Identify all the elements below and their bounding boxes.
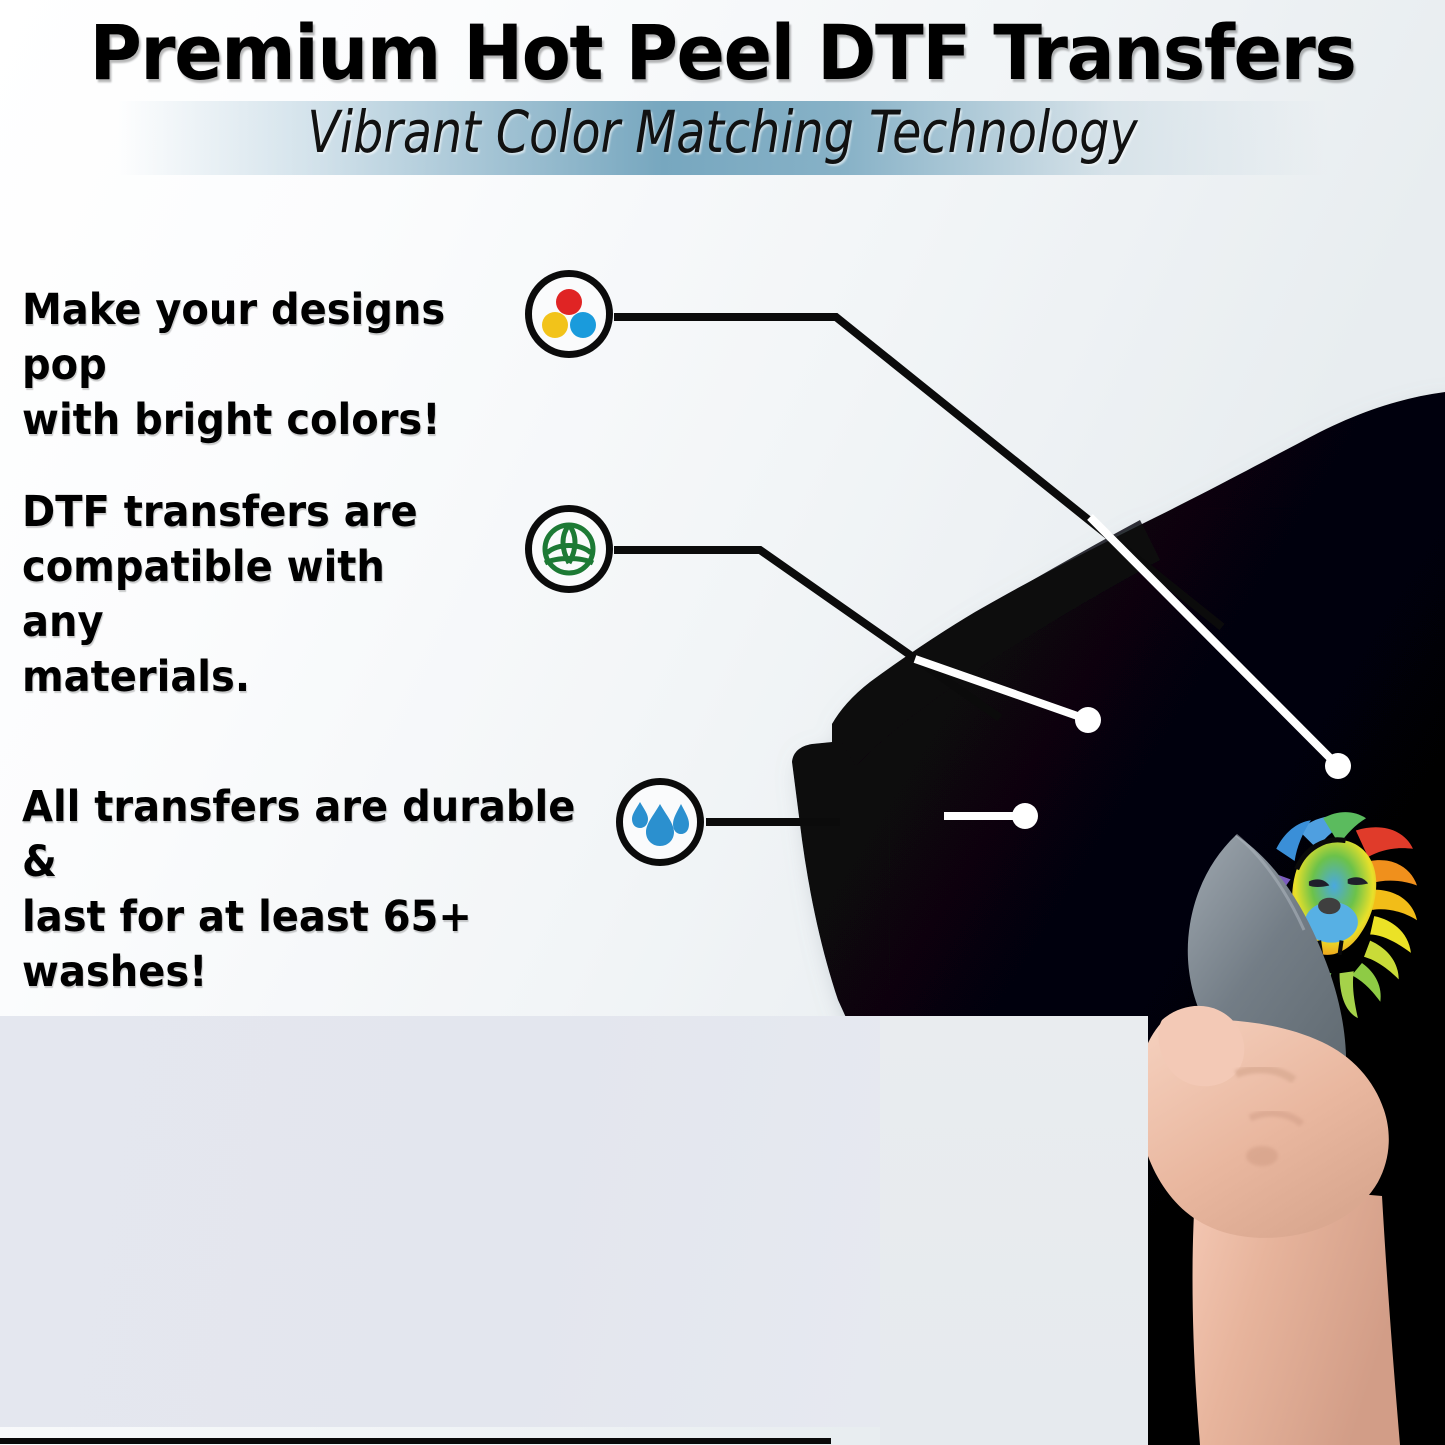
connector-endpoint-dot [1325,753,1351,779]
connector-endpoint-dot [1012,803,1038,829]
yarn-ball-icon [525,505,613,593]
bottom-divider [0,1438,831,1444]
page-subtitle: Vibrant Color Matching Technology [130,98,1315,166]
connector-endpoint-dot [1075,707,1101,733]
feature-durability: All transfers are durable & last for at … [22,780,622,1000]
feature-colors: Make your designs pop with bright colors… [22,283,522,448]
drop-center [646,804,674,846]
drop-left [632,802,648,828]
water-drops-icon [616,778,704,866]
drop-right [673,804,689,834]
feature-colors-label: Make your designs pop with bright colors… [22,283,487,448]
infographic-poster: Premium Hot Peel DTF Transfers Vibrant C… [0,0,1445,1445]
red-dot [556,289,582,315]
color-circles-icon [525,270,613,358]
bottom-panel [0,1016,880,1427]
page-title: Premium Hot Peel DTF Transfers [43,8,1401,97]
feature-materials-label: DTF transfers are compatible with any ma… [22,485,468,705]
bottom-panel-right [880,1016,1148,1445]
header: Premium Hot Peel DTF Transfers Vibrant C… [0,0,1445,190]
feature-durability-label: All transfers are durable & last for at … [22,780,580,1000]
blue-dot [570,312,596,338]
yellow-dot [542,312,568,338]
feature-materials: DTF transfers are compatible with any ma… [22,485,502,705]
